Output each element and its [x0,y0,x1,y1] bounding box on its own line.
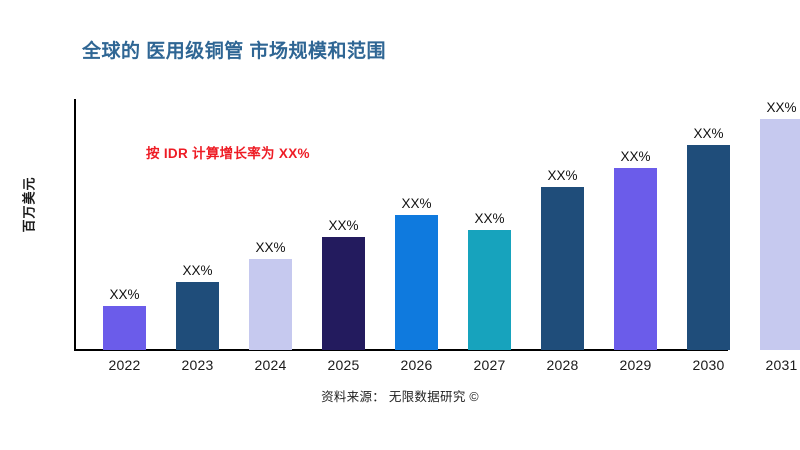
bar-value-label: XX% [401,196,431,211]
bar-group[interactable]: XX% [541,187,584,350]
bar-group[interactable]: XX% [322,237,365,350]
bar-value-label: XX% [182,263,212,278]
bar-2028[interactable] [541,187,584,350]
bar-value-label: XX% [328,218,358,233]
growth-rate-annotation: 按 IDR 计算增长率为 XX% [146,142,310,162]
bar-value-label: XX% [109,287,139,302]
bar-2025[interactable] [322,237,365,350]
x-tick-2031: 2031 [747,357,800,373]
bar-2030[interactable] [687,145,730,350]
bar-group[interactable]: XX% [687,145,730,350]
x-tick-2022: 2022 [90,357,160,373]
bar-chart-plot-area: 百万美元 按 IDR 计算增长率为 XX% XX%XX%XX%XX%XX%XX%… [0,0,800,450]
bar-group[interactable]: XX% [249,259,292,350]
bar-2026[interactable] [395,215,438,350]
chart-page: 全球的 医用级铜管 市场规模和范围 百万美元 按 IDR 计算增长率为 XX% … [0,0,800,450]
x-tick-2030: 2030 [674,357,744,373]
bar-2031[interactable] [760,119,800,350]
x-tick-2028: 2028 [528,357,598,373]
bar-2027[interactable] [468,230,511,350]
x-tick-2027: 2027 [455,357,525,373]
bar-2022[interactable] [103,306,146,350]
bar-value-label: XX% [255,240,285,255]
bar-group[interactable]: XX% [760,119,800,350]
x-tick-2029: 2029 [601,357,671,373]
bar-group[interactable]: XX% [614,168,657,350]
bar-2023[interactable] [176,282,219,350]
y-axis-line [74,99,76,351]
bar-2024[interactable] [249,259,292,350]
x-tick-2024: 2024 [236,357,306,373]
bar-value-label: XX% [474,211,504,226]
bar-2029[interactable] [614,168,657,350]
bar-value-label: XX% [766,100,796,115]
bar-group[interactable]: XX% [176,282,219,350]
bar-group[interactable]: XX% [395,215,438,350]
bar-value-label: XX% [547,168,577,183]
source-note: 资料来源： 无限数据研究 © [0,386,800,405]
bar-value-label: XX% [620,149,650,164]
bar-group[interactable]: XX% [103,306,146,350]
x-tick-2025: 2025 [309,357,379,373]
x-tick-2026: 2026 [382,357,452,373]
bar-group[interactable]: XX% [468,230,511,350]
bar-value-label: XX% [693,126,723,141]
x-tick-2023: 2023 [163,357,233,373]
y-axis-title: 百万美元 [19,155,38,255]
